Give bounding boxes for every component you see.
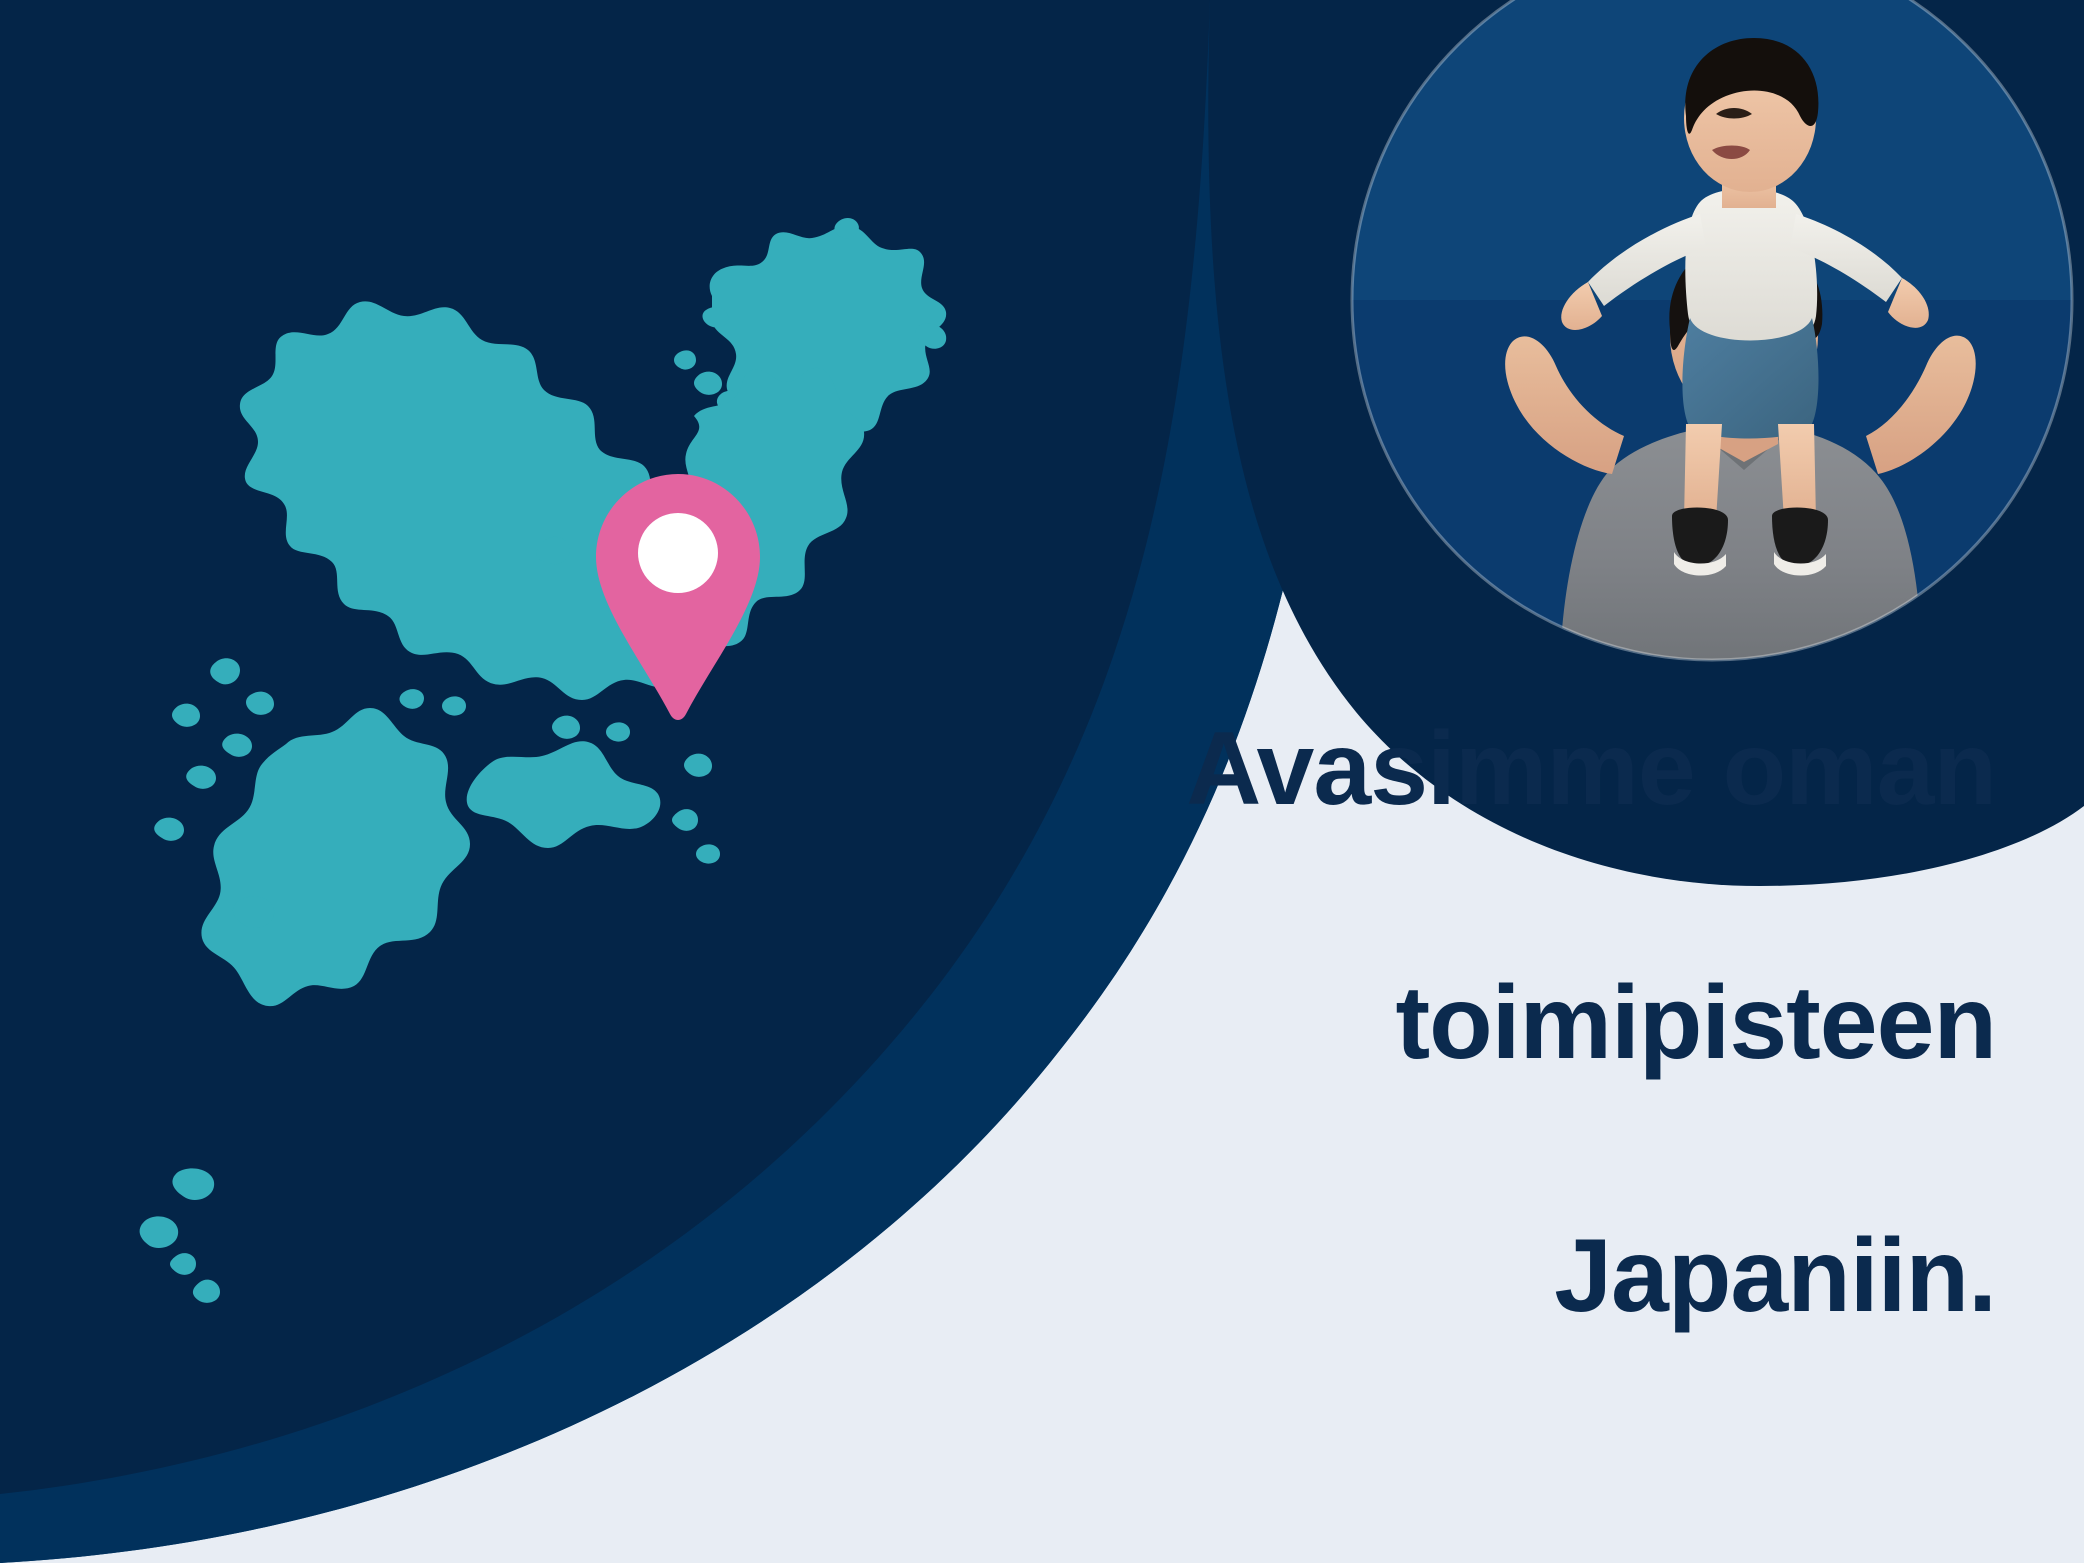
headline-line-2: toimipisteen	[936, 960, 1996, 1087]
photo-kid-shirt	[1685, 189, 1817, 351]
headline: Avasimme oman toimipisteen Japaniin.	[936, 579, 1996, 1467]
map-pin-dot	[638, 513, 718, 593]
headline-line-1: Avasimme oman	[936, 706, 1996, 833]
photo-kid-leg-right	[1778, 424, 1816, 520]
photo-kid-leg-left	[1684, 424, 1722, 520]
hero-banner: Avasimme oman toimipisteen Japaniin.	[0, 0, 2084, 1563]
headline-line-3: Japaniin.	[936, 1213, 1996, 1340]
